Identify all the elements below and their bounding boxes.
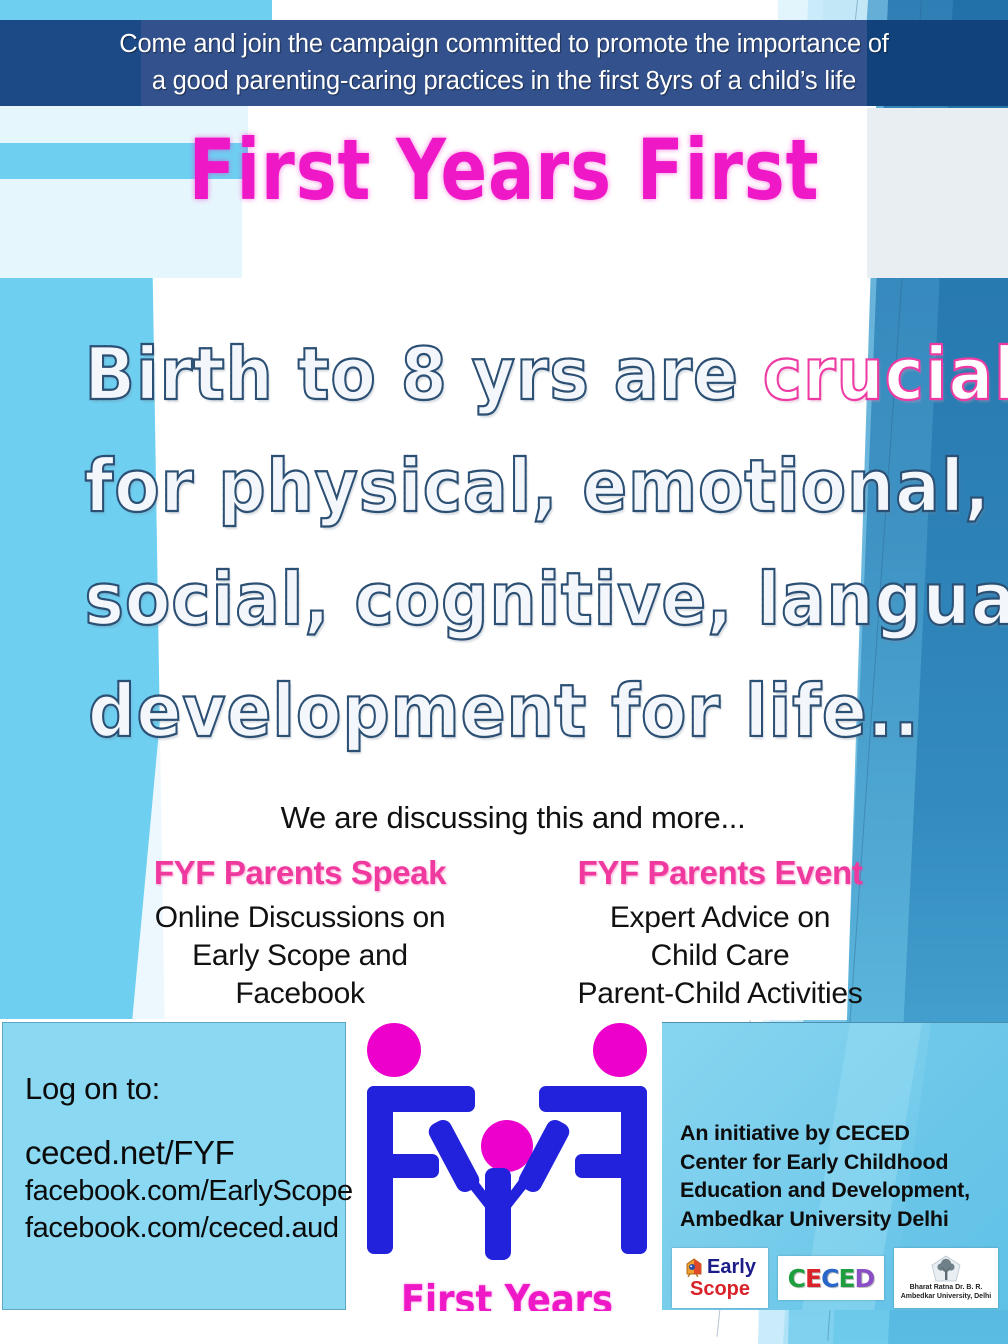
aud-caption: Bharat Ratna Dr. B. R. Ambedkar Universi…	[901, 1284, 992, 1302]
discussion-intro: We are discussing this and more...	[150, 800, 876, 836]
initiative-line-2: Center for Early Childhood	[680, 1148, 1000, 1177]
contact-url-facebook-ceced[interactable]: facebook.com/ceced.aud	[25, 1210, 353, 1246]
partner-logos: Early Scope CECED	[672, 1246, 1008, 1310]
ceced-letter-3: C	[821, 1264, 838, 1293]
column-parents-event: FYF Parents Event Expert Advice on Child…	[530, 852, 910, 1014]
column-parents-speak: FYF Parents Speak Online Discussions on …	[110, 852, 490, 1014]
column-heading-parents-speak: FYF Parents Speak	[110, 852, 490, 894]
early-scope-top-row: Early	[684, 1257, 756, 1277]
early-scope-word-scope: Scope	[690, 1279, 750, 1299]
partner-logo-ceced: CECED	[778, 1256, 884, 1300]
ceced-letter-4: E	[838, 1264, 854, 1293]
initiative-line-3: Education and Development,	[680, 1176, 1000, 1205]
fyf-logo: First Years First	[352, 1018, 662, 1344]
contact-url-website[interactable]: ceced.net/FYF	[25, 1133, 353, 1173]
banner-line-2: a good parenting-caring practices in the…	[152, 63, 856, 100]
contact-box: Log on to: ceced.net/FYF facebook.com/Ea…	[2, 1022, 346, 1310]
banner-line-1: Come and join the campaign committed to …	[119, 26, 888, 63]
fyf-head-right	[593, 1023, 647, 1077]
headline-highlight-crucial: crucial	[763, 332, 1008, 416]
bottom-white-strip	[0, 1311, 662, 1344]
left-band-top	[0, 0, 272, 22]
contact-label: Log on to:	[25, 1071, 160, 1107]
column-heading-parents-event: FYF Parents Event	[530, 852, 910, 894]
contact-url-list: ceced.net/FYF facebook.com/EarlyScope fa…	[25, 1133, 353, 1246]
aud-caption-line-2: Ambedkar University, Delhi	[901, 1293, 992, 1302]
contact-url-facebook-earlyscope[interactable]: facebook.com/EarlyScope	[25, 1173, 353, 1209]
headline-line-1-text: Birth to 8 yrs are	[84, 332, 762, 416]
column-body-parents-speak: Online Discussions on Early Scope and Fa…	[110, 899, 490, 1013]
partner-logo-early-scope: Early Scope	[672, 1248, 768, 1308]
partner-logo-ambedkar-university: Bharat Ratna Dr. B. R. Ambedkar Universi…	[894, 1248, 998, 1308]
initiative-line-4: Ambedkar University Delhi	[680, 1205, 1000, 1234]
headline-line-3: social, cognitive, language	[84, 543, 923, 655]
ceced-letter-2: E	[805, 1264, 821, 1293]
header-banner: Come and join the campaign committed to …	[0, 20, 1008, 106]
headline-line-1: Birth to 8 yrs are crucial	[84, 318, 923, 430]
headline-block: Birth to 8 yrs are crucial for physical,…	[48, 318, 960, 767]
tree-emblem-icon	[929, 1254, 963, 1284]
aud-caption-line-1: Bharat Ratna Dr. B. R.	[901, 1284, 992, 1293]
headline-line-2: for physical, emotional,	[84, 430, 923, 542]
ceced-wordmark: CECED	[788, 1266, 875, 1291]
ceced-letter-1: C	[788, 1264, 805, 1293]
fyf-head-center	[481, 1120, 533, 1172]
headline-line-4: development for life..	[84, 655, 923, 767]
discussion-columns: FYF Parents Speak Online Discussions on …	[110, 852, 910, 1014]
column-body-parents-event: Expert Advice on Child Care Parent-Child…	[530, 899, 910, 1013]
poster-canvas: Come and join the campaign committed to …	[0, 0, 1008, 1344]
fyf-letters	[367, 1086, 647, 1260]
ceced-letter-5: D	[855, 1264, 875, 1293]
page-title: First Years First	[91, 128, 918, 212]
initiative-text: An initiative by CECED Center for Early …	[680, 1119, 1000, 1233]
birdhouse-icon	[684, 1257, 704, 1277]
early-scope-word-early: Early	[707, 1257, 756, 1277]
fyf-figures-icon	[352, 1018, 662, 1280]
initiative-line-1: An initiative by CECED	[680, 1119, 1000, 1148]
fyf-head-left	[367, 1023, 421, 1077]
